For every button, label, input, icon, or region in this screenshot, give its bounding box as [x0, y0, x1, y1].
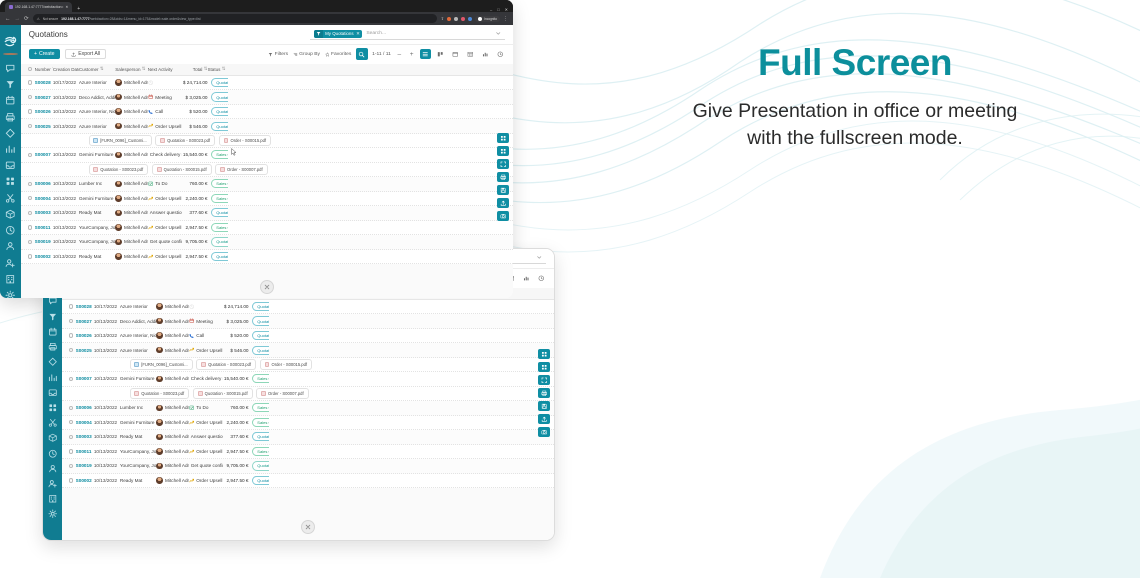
cell-number[interactable]: S00019	[35, 239, 53, 244]
camera-icon	[541, 429, 548, 436]
column-header-status[interactable]: Status⇅	[208, 64, 229, 75]
cell-salesperson: Mitchell Admin	[115, 253, 148, 260]
attachment-chip[interactable]: [FURN_0096]_Customi...	[130, 359, 193, 370]
rail-clock-icon[interactable]	[48, 449, 58, 459]
column-header-salesperson[interactable]: Salesperson⇅	[115, 64, 148, 75]
cell-number[interactable]: S00002	[76, 478, 94, 483]
magnifier-icon	[358, 51, 365, 58]
rail-building-icon[interactable]	[5, 274, 16, 285]
browser-menu-icon[interactable]: ⋮	[503, 16, 508, 22]
cell-salesperson: Mitchell Admin	[156, 434, 189, 441]
cell-number[interactable]: S00019	[76, 463, 94, 468]
grid-icon	[48, 403, 58, 413]
rail-scissors-icon[interactable]	[48, 418, 58, 428]
row-checkbox[interactable]	[28, 211, 35, 215]
table-row[interactable]: S0000310/13/2022Ready MatMitchell AdminA…	[21, 206, 513, 221]
create-button[interactable]: +Create	[29, 49, 60, 59]
cell-status: Sales Order	[208, 223, 229, 232]
cell-creation-date: 10/13/2022	[53, 225, 79, 230]
incognito-avatar-icon	[478, 17, 482, 21]
sort-indicator: ⇅	[204, 66, 208, 72]
row-checkbox[interactable]	[69, 333, 76, 337]
row-checkbox[interactable]	[69, 449, 76, 453]
cell-status: Sales Order	[249, 418, 270, 427]
extension-icon-2[interactable]	[454, 17, 458, 21]
attachment-label: Quotation - S00023.pdf	[141, 391, 184, 396]
cell-next-activity[interactable]: Answer questions	[148, 210, 182, 215]
attachment-chip[interactable]: Order - S00007.pdf	[215, 164, 267, 175]
cell-next-activity[interactable]	[189, 304, 223, 309]
table-row[interactable]: S0000210/13/2022Ready MatMitchell AdminO…	[21, 250, 513, 265]
cell-creation-date: 10/13/2022	[94, 434, 120, 439]
attachment-chips-row: Quotation - S00023.pdfQuotation - S00015…	[62, 387, 554, 401]
cell-total: 9,705.00 €	[182, 239, 208, 244]
row-checkbox[interactable]	[28, 80, 35, 84]
side-tool-export-icon[interactable]	[497, 198, 509, 208]
cell-number[interactable]: S00011	[35, 225, 53, 230]
rail-person-icon[interactable]	[5, 241, 16, 252]
attachment-chip[interactable]: Quotation - S00023.pdf	[196, 359, 256, 370]
side-tool-settings-gear-icon[interactable]	[497, 133, 509, 143]
filter-icon	[5, 79, 16, 90]
status-badge: Quotation	[252, 331, 269, 340]
cell-status: Quotation	[208, 78, 229, 87]
rail-print-icon[interactable]	[48, 342, 58, 352]
group-by-button[interactable]: Group By	[293, 52, 320, 57]
floating-close-button[interactable]	[260, 280, 274, 294]
table-row[interactable]: S0001910/13/2022YourCompany, Joel Willis…	[21, 235, 513, 250]
table-row[interactable]: S0001110/13/2022YourCompany, Joel Willis…	[62, 445, 554, 460]
cell-customer: Gemini Furniture	[79, 152, 115, 157]
list-view-icon	[422, 51, 429, 58]
avatar	[156, 318, 163, 325]
close-icon	[263, 283, 271, 291]
side-tool-export-icon[interactable]	[538, 414, 550, 424]
view-switch-activity-view-icon[interactable]	[536, 273, 546, 283]
address-bar[interactable]: ⚠Not secure192.168.1.47:7777/web#action=…	[33, 14, 437, 23]
activity-label: Get quote confirmation	[191, 463, 223, 468]
cell-next-activity[interactable]: Call	[148, 109, 182, 114]
cell-next-activity[interactable]: Call	[189, 333, 223, 338]
column-label: Customer	[79, 67, 99, 72]
side-tool-camera-icon[interactable]	[538, 427, 550, 437]
cell-customer: Deco Addict, Addison Olson	[120, 319, 156, 324]
extension-icon-4[interactable]	[468, 17, 472, 21]
fullscreen-icon	[500, 161, 507, 168]
cell-total: 760.00 €	[223, 405, 249, 410]
back-button[interactable]: ←	[5, 16, 11, 22]
table-row[interactable]: S0001910/13/2022YourCompany, Joel Willis…	[62, 459, 554, 474]
filter-icon	[268, 52, 273, 57]
window-control-1[interactable]: □	[497, 7, 499, 12]
rail-gear-icon[interactable]	[5, 290, 16, 298]
attachment-chip[interactable]: Order - S00015.pdf	[260, 359, 312, 370]
filters-label: Filters	[275, 52, 288, 57]
cell-number[interactable]: S00026	[76, 333, 94, 338]
cell-number[interactable]: S00003	[76, 434, 94, 439]
column-header-next-activity[interactable]: Next Activity	[148, 64, 182, 75]
messages-icon	[5, 63, 16, 74]
browser-tab[interactable]: 192.168.1.47:7777/web#action=✕	[5, 2, 72, 12]
side-tool-print-icon[interactable]	[538, 388, 550, 398]
star-icon	[325, 52, 330, 57]
salesperson-name: Mitchell Admin	[165, 420, 189, 425]
table-row[interactable]: S0001110/13/2022YourCompany, Joel Willis…	[21, 221, 513, 236]
table-row[interactable]: S0002710/13/2022Deco Addict, Addison Ols…	[21, 90, 513, 105]
view-switch-graph-view-icon[interactable]	[521, 273, 531, 283]
row-checkbox[interactable]	[28, 254, 35, 258]
avatar	[115, 195, 122, 202]
attachment-chip[interactable]: Order - S00007.pdf	[256, 388, 308, 399]
column-header-total[interactable]: Total⇅	[182, 64, 208, 75]
select-all-checkbox[interactable]	[28, 64, 35, 75]
cell-next-activity[interactable]: Order Upsell	[148, 123, 182, 128]
row-checkbox[interactable]	[69, 377, 76, 381]
cell-number[interactable]: S00003	[35, 210, 53, 215]
column-label: Total	[193, 67, 203, 72]
view-switch-graph-view-icon[interactable]	[480, 49, 490, 59]
cell-next-activity[interactable]: Meeting	[189, 318, 223, 323]
window-controls[interactable]: –□✕	[490, 7, 513, 12]
search-facet-my-quotations[interactable]: My Quotations✕	[314, 30, 362, 38]
cell-next-activity[interactable]: Get quote confirmation	[189, 463, 223, 468]
table-row[interactable]: S0000610/13/2022Lumber IncMitchell Admin…	[62, 401, 554, 416]
person-icon	[48, 464, 58, 474]
attachment-label: Order - S00015.pdf	[272, 362, 308, 367]
side-tool-magnifier-search-icon[interactable]	[538, 362, 550, 372]
rail-calendar-icon[interactable]	[5, 95, 16, 106]
inbox-icon	[48, 388, 58, 398]
cell-number[interactable]: S00011	[76, 449, 94, 454]
cell-next-activity[interactable]: Order Upsell	[148, 196, 182, 201]
view-switch-list-view-icon[interactable]	[420, 49, 430, 59]
cell-next-activity[interactable]: Order Upsell	[189, 449, 223, 454]
mouse-cursor-icon	[231, 143, 237, 151]
cell-customer: YourCompany, Joel Willis	[79, 225, 115, 230]
cell-number[interactable]: S00006	[35, 181, 53, 186]
rail-building-icon[interactable]	[48, 494, 58, 504]
cell-number[interactable]: S00027	[76, 319, 94, 324]
cell-next-activity[interactable]: Check delivery requirements	[148, 152, 182, 157]
rail-box-icon[interactable]	[48, 433, 58, 443]
extension-icon-1[interactable]	[447, 17, 451, 21]
tab-close-icon[interactable]: ✕	[65, 5, 68, 9]
status-badge: Quotation Sent	[252, 461, 269, 470]
rail-clock-icon[interactable]	[5, 225, 16, 236]
cell-number[interactable]: S00004	[76, 420, 94, 425]
column-label: Next Activity	[148, 67, 173, 72]
favorites-label: Favorites	[331, 52, 351, 57]
table-row[interactable]: S0000410/13/2022Gemini FurnitureMitchell…	[62, 416, 554, 431]
cell-number[interactable]: S00004	[35, 196, 53, 201]
table-row[interactable]: S0000310/13/2022Ready MatMitchell AdminA…	[62, 430, 554, 445]
salesperson-name: Mitchell Admin	[124, 152, 148, 157]
table-row[interactable]: S0000410/13/2022Gemini FurnitureMitchell…	[21, 192, 513, 207]
view-controls: FiltersGroup ByFavorites1-11 / 11–+	[268, 48, 505, 60]
side-tool-settings-gear-icon[interactable]	[538, 349, 550, 359]
cell-creation-date: 10/13/2022	[53, 196, 79, 201]
attachment-chip[interactable]: Order - S00015.pdf	[219, 135, 271, 146]
avatar	[156, 347, 163, 354]
attachment-chip[interactable]: Quotation - S00023.pdf	[155, 135, 215, 146]
spreadsheet-file-icon	[93, 138, 98, 143]
column-header-creation-date[interactable]: Creation Date⇅	[53, 64, 79, 75]
salesperson-name: Mitchell Admin	[165, 376, 189, 381]
table-row[interactable]: S0000610/13/2022Lumber IncMitchell Admin…	[21, 177, 513, 192]
incognito-badge[interactable]: Incognito	[475, 16, 500, 22]
row-checkbox[interactable]	[28, 225, 35, 229]
view-switch-pivot-view-icon[interactable]	[465, 49, 475, 59]
rail-messages-icon[interactable]	[5, 63, 16, 74]
cell-next-activity[interactable]: Order Upsell	[189, 478, 223, 483]
rail-chart-icon[interactable]	[5, 144, 16, 155]
salesperson-name: Mitchell Admin	[124, 80, 148, 85]
cell-salesperson: Mitchell Admin	[115, 152, 148, 159]
export-icon	[500, 200, 507, 207]
table-row[interactable]: S0002510/13/2022Azure InteriorMitchell A…	[62, 343, 554, 358]
cell-status: Quotation	[249, 331, 270, 340]
cell-customer: Azure Interior, Nicole Ford	[79, 109, 115, 114]
table-row[interactable]: S0000210/13/2022Ready MatMitchell AdminO…	[62, 474, 554, 489]
cell-number[interactable]: S00028	[35, 80, 53, 85]
cell-next-activity[interactable]	[148, 80, 182, 85]
cell-status: Quotation	[249, 432, 270, 441]
chart-icon	[48, 373, 58, 383]
rail-chart-icon[interactable]	[48, 373, 58, 383]
rail-inbox-icon[interactable]	[5, 160, 16, 171]
cell-customer: YourCompany, Joel Willis	[79, 239, 115, 244]
row-checkbox[interactable]	[69, 478, 76, 482]
search-input[interactable]: Search...	[366, 31, 386, 36]
zoom-in-button[interactable]: +	[408, 50, 416, 58]
box-icon	[48, 433, 58, 443]
row-checkbox[interactable]	[28, 109, 35, 113]
person-icon	[5, 241, 16, 252]
side-tool-print-icon[interactable]	[497, 172, 509, 182]
table-row[interactable]: S0002810/17/2022Azure InteriorMitchell A…	[21, 76, 513, 91]
attachment-chip[interactable]: [FURN_0096]_Customi...	[89, 135, 152, 146]
activity-label: Order Upsell	[196, 478, 222, 483]
table-row[interactable]: S0002810/17/2022Azure InteriorMitchell A…	[62, 300, 554, 315]
attachment-chip[interactable]: Quotation - S00023.pdf	[130, 388, 190, 399]
view-switch-kanban-view-icon[interactable]	[435, 49, 445, 59]
row-checkbox[interactable]	[28, 95, 35, 99]
magnifier-toggle-button[interactable]	[356, 48, 368, 60]
row-checkbox[interactable]	[69, 464, 76, 468]
building-icon	[5, 274, 16, 285]
side-tool-camera-icon[interactable]	[497, 211, 509, 221]
rail-person-icon[interactable]	[48, 464, 58, 474]
pdf-file-icon	[198, 391, 203, 396]
side-tool-strip	[497, 133, 509, 221]
search-dropdown-toggle[interactable]	[536, 254, 543, 261]
cell-next-activity[interactable]: Get quote confirmation	[148, 239, 182, 244]
cell-salesperson: Mitchell Admin	[115, 94, 148, 101]
rail-diamond-icon[interactable]	[48, 357, 58, 367]
rail-filter-icon[interactable]	[5, 79, 16, 90]
zoom-out-button[interactable]: –	[395, 50, 403, 58]
grid-icon	[5, 176, 16, 187]
column-label: Salesperson	[115, 67, 140, 72]
column-label: Number	[35, 67, 51, 72]
url-text: 192.168.1.47:7777/web#action=28&cids=1&m…	[61, 17, 200, 21]
cell-creation-date: 10/13/2022	[53, 124, 79, 129]
side-tool-fullscreen-icon[interactable]	[497, 159, 509, 169]
row-checkbox[interactable]	[69, 435, 76, 439]
avatar	[156, 332, 163, 339]
rail-inbox-icon[interactable]	[48, 388, 58, 398]
cell-next-activity[interactable]: Meeting	[148, 94, 182, 99]
window-control-0[interactable]: –	[490, 7, 492, 12]
cell-total: $ 546.00	[223, 348, 249, 353]
search-facet-remove[interactable]: ✕	[356, 31, 362, 37]
cell-number[interactable]: S00006	[76, 405, 94, 410]
person-add-icon	[5, 258, 16, 269]
cell-customer: Azure Interior	[79, 80, 115, 85]
row-checkbox[interactable]	[69, 348, 76, 352]
odoo-logo-icon[interactable]	[3, 34, 18, 49]
rail-filter-icon[interactable]	[48, 312, 58, 322]
search-bar[interactable]: My Quotations✕Search...	[310, 29, 505, 40]
search-dropdown-toggle[interactable]	[495, 30, 502, 37]
rail-gear-icon[interactable]	[48, 509, 58, 519]
status-badge: Quotation	[252, 316, 269, 325]
new-tab-button[interactable]: +	[74, 6, 83, 12]
cell-customer: YourCompany, Joel Willis	[120, 463, 156, 468]
cell-customer: Lumber Inc	[79, 181, 115, 186]
cell-next-activity[interactable]: To Do	[189, 405, 223, 410]
attachment-chip[interactable]: Quotation - S00015.pdf	[193, 388, 253, 399]
cell-next-activity[interactable]: Answer questions	[189, 434, 223, 439]
window-control-2[interactable]: ✕	[505, 7, 508, 12]
pdf-file-icon	[224, 138, 229, 143]
chart-up-icon	[189, 420, 194, 425]
cell-number[interactable]: S00002	[35, 254, 53, 259]
rail-print-icon[interactable]	[5, 112, 16, 123]
quotations-table: Number⇅Creation Date⇅Customer⇅Salesperso…	[21, 64, 513, 264]
cell-next-activity[interactable]: Order Upsell	[148, 225, 182, 230]
cell-salesperson: Mitchell Admin	[156, 376, 189, 383]
avatar	[156, 477, 163, 484]
status-badge: Quotation Sent	[211, 237, 228, 246]
reload-button[interactable]: ⟳	[24, 16, 29, 22]
browser-actions[interactable]: ⇧Incognito⋮	[441, 16, 508, 22]
cell-number[interactable]: S00007	[76, 376, 94, 381]
cell-status: Quotation Sent	[208, 237, 229, 246]
side-tool-magnifier-search-icon[interactable]	[497, 146, 509, 156]
attachment-chip[interactable]: Quotation - S00015.pdf	[152, 164, 212, 175]
cell-number[interactable]: S00027	[35, 95, 53, 100]
pdf-file-icon	[201, 362, 206, 367]
table-row[interactable]: S0002610/13/2022Azure Interior, Nicole F…	[21, 105, 513, 120]
row-checkbox[interactable]	[69, 420, 76, 424]
export-all-button[interactable]: Export All	[65, 49, 106, 59]
forward-button[interactable]: →	[15, 16, 21, 22]
cell-creation-date: 10/13/2022	[94, 333, 120, 338]
rail-diamond-icon[interactable]	[5, 128, 16, 139]
avatar	[115, 94, 122, 101]
cell-number[interactable]: S00026	[35, 109, 53, 114]
rail-scissors-icon[interactable]	[5, 193, 16, 204]
row-checkbox[interactable]	[28, 153, 35, 157]
gear-icon	[5, 290, 16, 298]
rail-box-icon[interactable]	[5, 209, 16, 220]
rail-grid-icon[interactable]	[48, 403, 58, 413]
floating-close-button[interactable]	[301, 520, 315, 534]
table-row[interactable]: S0000710/13/2022Gemini FurnitureMitchell…	[62, 372, 554, 387]
cell-salesperson: Mitchell Admin	[156, 303, 189, 310]
attachment-chip[interactable]: Quotation - S00023.pdf	[89, 164, 149, 175]
side-tool-save-icon[interactable]	[538, 401, 550, 411]
activity-label: Check delivery requirements	[191, 376, 223, 381]
salesperson-name: Mitchell Admin	[124, 210, 148, 215]
cell-salesperson: Mitchell Admin	[115, 79, 148, 86]
export-icon	[541, 416, 548, 423]
cell-total: 15,540.00 €	[182, 152, 208, 157]
side-tool-save-icon[interactable]	[497, 185, 509, 195]
sort-indicator: ⇅	[100, 66, 104, 72]
cell-next-activity[interactable]: Order Upsell	[189, 347, 223, 352]
row-checkbox[interactable]	[28, 124, 35, 128]
cell-number[interactable]: S00007	[35, 152, 53, 157]
cell-salesperson: Mitchell Admin	[115, 210, 148, 217]
cell-next-activity[interactable]: Order Upsell	[148, 254, 182, 259]
table-row[interactable]: S0002610/13/2022Azure Interior, Nicole F…	[62, 329, 554, 344]
cell-next-activity[interactable]: Check delivery requirements	[189, 376, 223, 381]
row-checkbox[interactable]	[28, 240, 35, 244]
row-checkbox[interactable]	[28, 196, 35, 200]
rail-calendar-icon[interactable]	[48, 327, 58, 337]
view-switch-calendar-view-icon[interactable]	[450, 49, 460, 59]
salesperson-name: Mitchell Admin	[124, 109, 148, 114]
row-checkbox[interactable]	[69, 304, 76, 308]
rail-person-add-icon[interactable]	[5, 258, 16, 269]
calendar-icon	[148, 94, 153, 99]
extension-icon-3[interactable]	[461, 17, 465, 21]
cell-total: 2,947.50 €	[223, 449, 249, 454]
cell-number[interactable]: S00025	[76, 348, 94, 353]
cell-number[interactable]: S00025	[35, 124, 53, 129]
row-checkbox[interactable]	[69, 406, 76, 410]
rail-person-add-icon[interactable]	[48, 479, 58, 489]
chart-up-icon	[148, 225, 153, 230]
favorites-button[interactable]: Favorites	[325, 52, 352, 57]
table-row[interactable]: S0000710/13/2022Gemini FurnitureMitchell…	[21, 148, 513, 163]
side-tool-fullscreen-icon[interactable]	[538, 375, 550, 385]
row-checkbox[interactable]	[69, 319, 76, 323]
cell-next-activity[interactable]: To Do	[148, 181, 182, 186]
cell-number[interactable]: S00028	[76, 304, 94, 309]
cell-salesperson: Mitchell Admin	[115, 108, 148, 115]
view-switch-activity-view-icon[interactable]	[495, 49, 505, 59]
column-header-number[interactable]: Number⇅	[35, 64, 53, 75]
print-icon	[48, 342, 58, 352]
cell-salesperson: Mitchell Admin	[115, 195, 148, 202]
chart-up-icon	[148, 123, 153, 128]
row-checkbox[interactable]	[28, 182, 35, 186]
table-row[interactable]: S0002510/13/2022Azure InteriorMitchell A…	[21, 119, 513, 134]
salesperson-name: Mitchell Admin	[165, 405, 189, 410]
share-icon[interactable]: ⇧	[441, 16, 444, 21]
cell-next-activity[interactable]: Order Upsell	[189, 420, 223, 425]
table-row[interactable]: S0002710/13/2022Deco Addict, Addison Ols…	[62, 314, 554, 329]
cell-total: $ 24,714.00	[182, 80, 208, 85]
pivot-view-icon	[467, 51, 474, 58]
avatar	[156, 419, 163, 426]
filters-button[interactable]: Filters	[268, 52, 288, 57]
column-header-customer[interactable]: Customer⇅	[79, 64, 115, 75]
rail-grid-icon[interactable]	[5, 176, 16, 187]
